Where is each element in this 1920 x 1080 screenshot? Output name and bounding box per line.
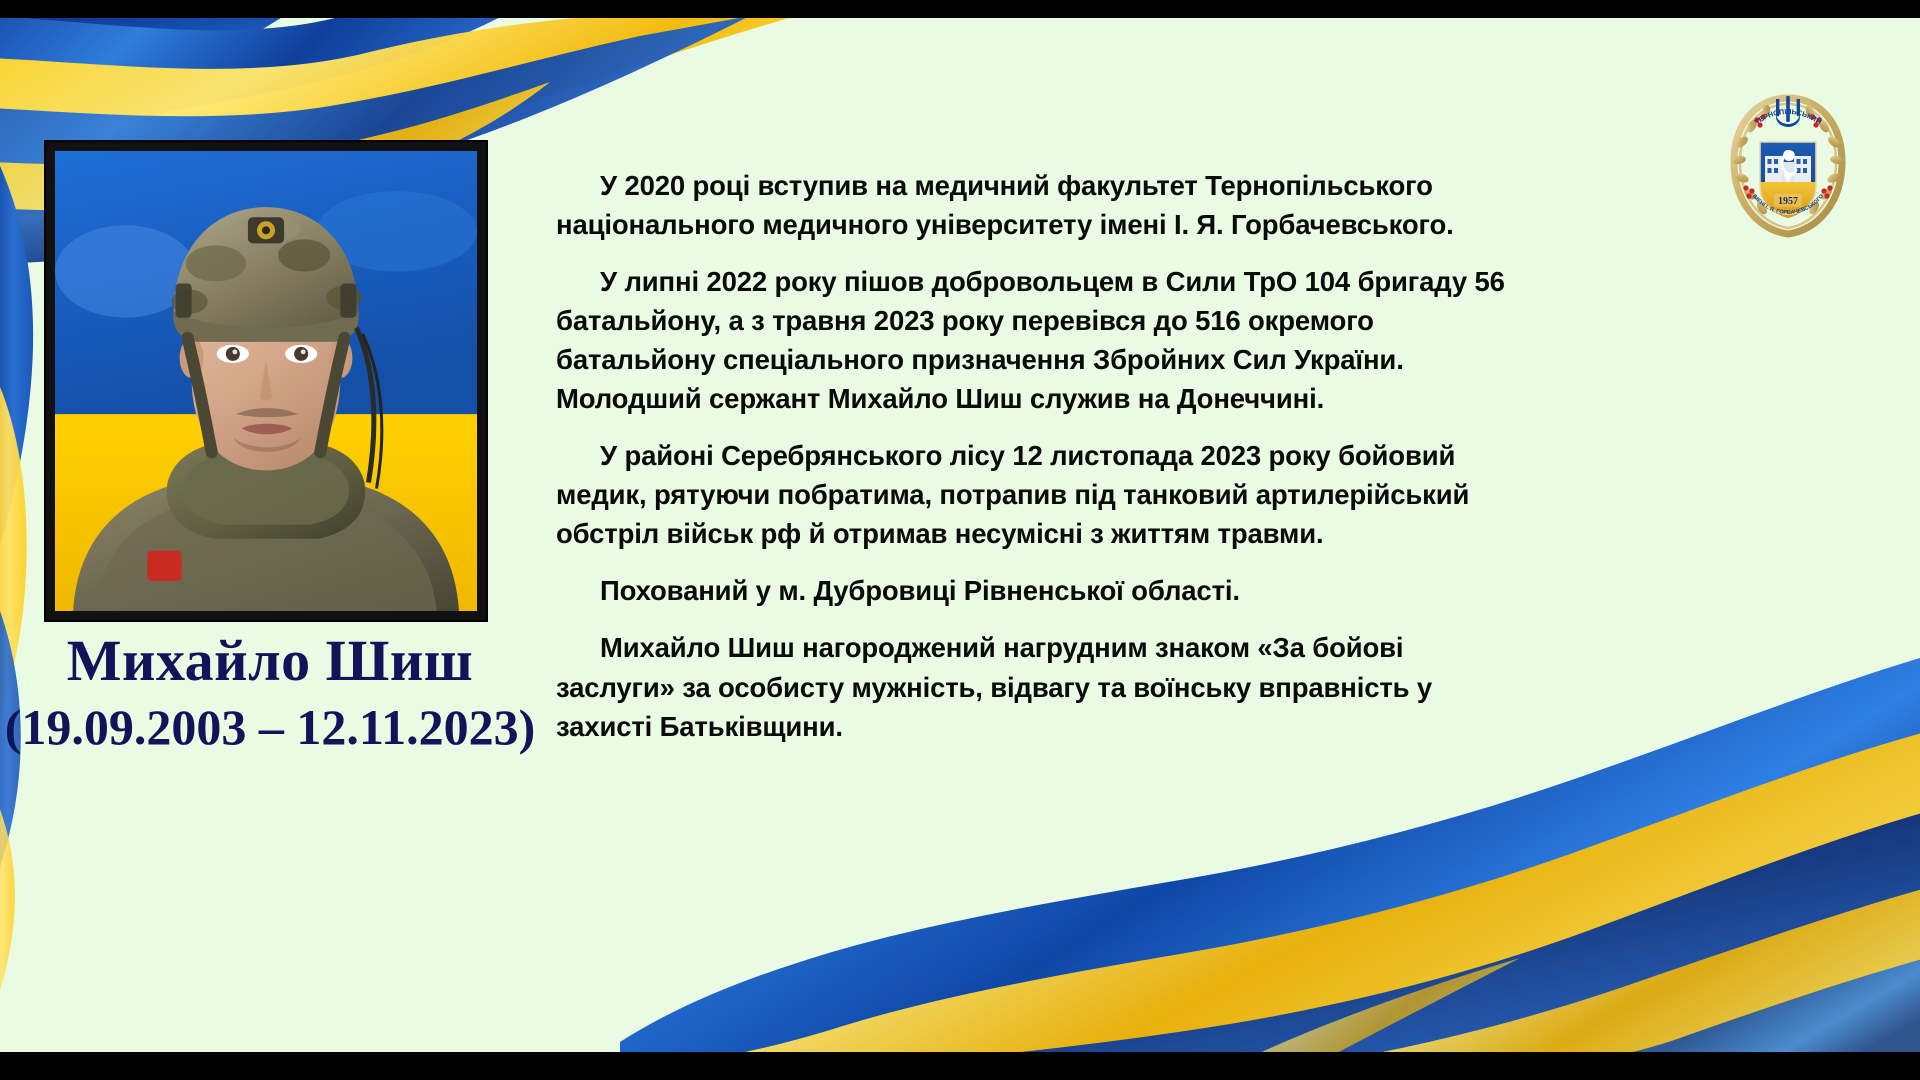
bio-paragraph-1: У 2020 році вступив на медичний факульте… — [556, 166, 1516, 244]
bio-paragraph-5: Михайло Шиш нагороджений нагрудним знако… — [556, 628, 1516, 745]
bio-paragraph-2: У липні 2022 року пішов добровольцем в С… — [556, 262, 1516, 418]
slide-canvas: Михайло Шиш (19.09.2003 – 12.11.2023) — [0, 18, 1920, 1052]
university-emblem-icon: 1957 ТЕРНОПІЛЬСЬКИЙ ІМЕНІ І. Я. ГОРБАЧЕВ… — [1722, 90, 1854, 238]
biography-text: У 2020 році вступив на медичний факульте… — [556, 166, 1516, 746]
bio-paragraph-3: У районі Серебрянського лісу 12 листопад… — [556, 436, 1516, 553]
letterbox-bottom — [0, 1052, 1920, 1080]
letterbox-top — [0, 0, 1920, 18]
emblem-year: 1957 — [1778, 196, 1798, 207]
name-block: Михайло Шиш (19.09.2003 – 12.11.2023) — [0, 630, 540, 755]
portrait-illustration — [55, 151, 477, 611]
bio-paragraph-4: Похований у м. Дубровиці Рівненської обл… — [556, 571, 1516, 610]
portrait-frame — [46, 142, 486, 620]
soldier-dates: (19.09.2003 – 12.11.2023) — [0, 699, 540, 755]
soldier-portrait — [55, 151, 477, 611]
soldier-name: Михайло Шиш — [0, 630, 540, 693]
memorial-slide: Михайло Шиш (19.09.2003 – 12.11.2023) — [0, 0, 1920, 1080]
